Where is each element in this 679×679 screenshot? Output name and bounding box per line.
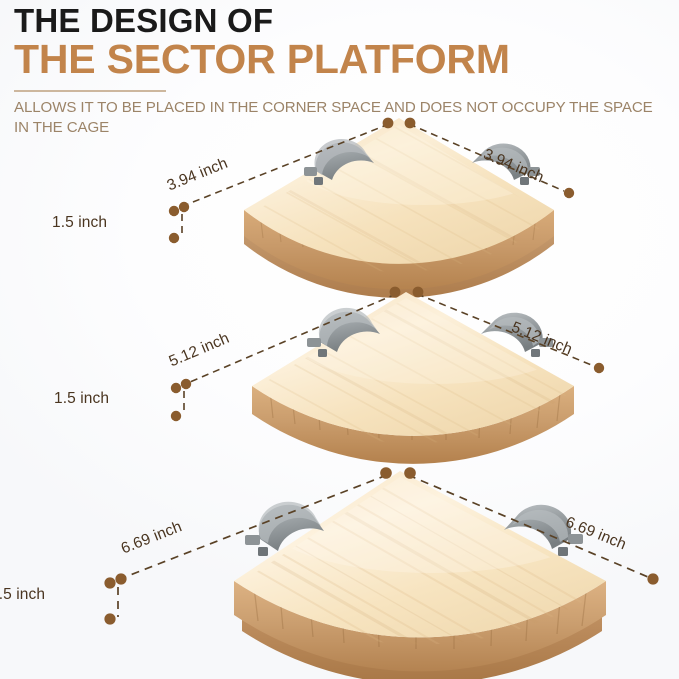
shelf-small-label-thickness: 1.5 inch <box>52 214 107 232</box>
header-divider <box>14 90 166 92</box>
shelf-small-graphic <box>64 118 609 298</box>
shelf-small: 3.94 inch 3.94 inch 1.5 inch <box>64 118 609 298</box>
shelf-large-label-thickness: 1.5 inch <box>0 586 45 604</box>
title-line-2: THE SECTOR PLATFORM <box>14 38 669 81</box>
title-line-1: THE DESIGN OF <box>14 4 669 39</box>
shelf-large: 6.69 inch 6.69 inch 1.5 inch <box>2 455 674 679</box>
shelf-large-graphic <box>2 455 674 679</box>
shelf-medium-graphic <box>34 286 634 476</box>
shelf-medium: 5.12 inch 5.12 inch 1.5 inch <box>34 286 634 476</box>
infographic-canvas: THE DESIGN OF THE SECTOR PLATFORM ALLOWS… <box>0 0 679 679</box>
shelf-medium-label-thickness: 1.5 inch <box>54 390 109 408</box>
